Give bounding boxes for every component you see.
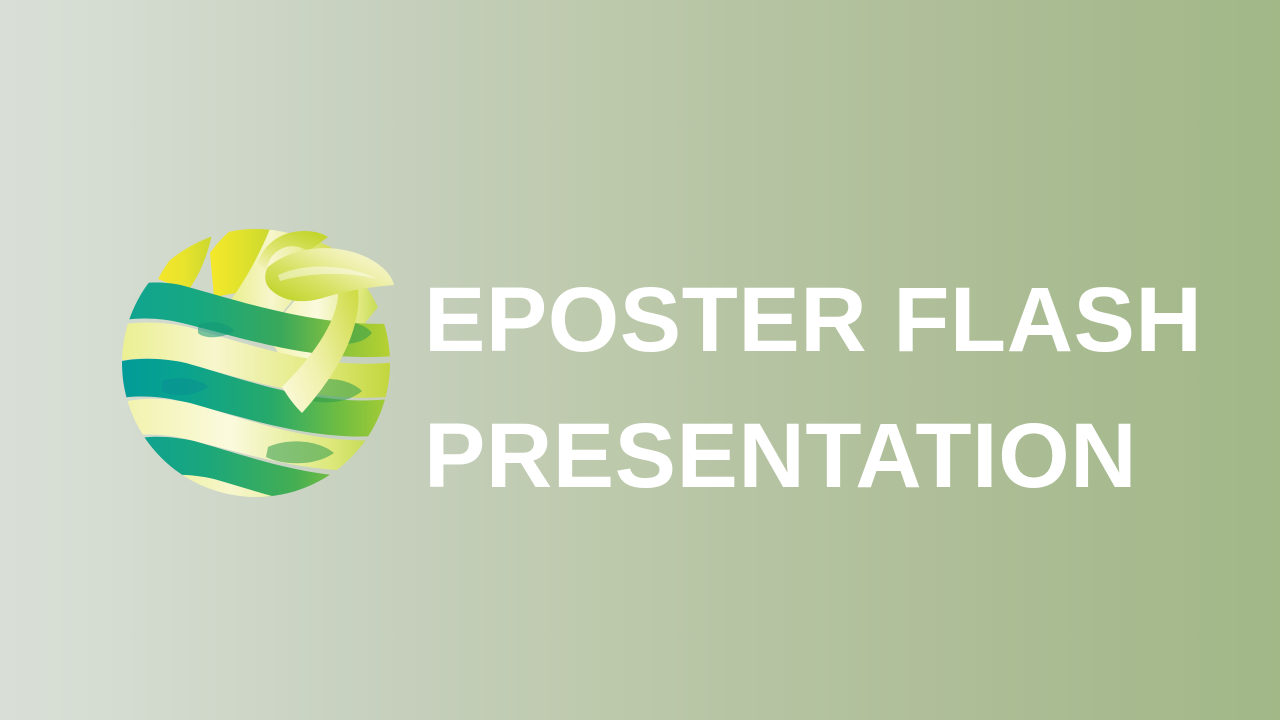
title-line-2: PRESENTATION — [424, 388, 1204, 524]
title-slide: EPOSTER FLASH PRESENTATION — [0, 0, 1280, 720]
slide-title: EPOSTER FLASH PRESENTATION — [424, 252, 1204, 524]
title-line-1: EPOSTER FLASH — [424, 252, 1204, 388]
brand-logo — [118, 205, 404, 517]
band-7 — [166, 505, 404, 559]
